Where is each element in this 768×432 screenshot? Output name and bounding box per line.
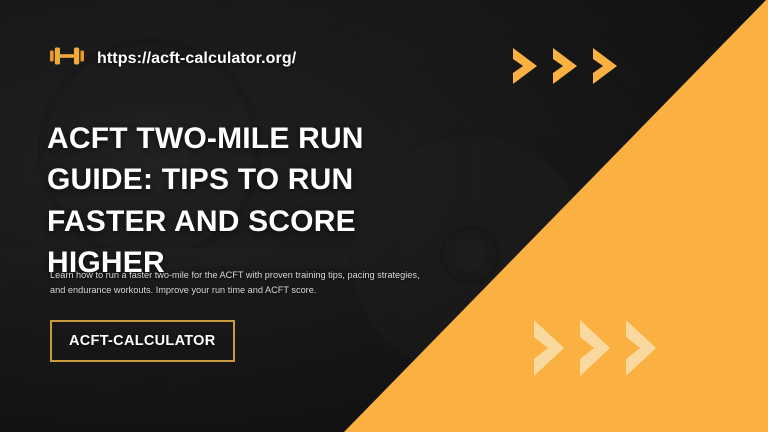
acft-calculator-button[interactable]: ACFT-CALCULATOR (50, 320, 235, 362)
chevron-right-icon (591, 46, 637, 91)
subtitle-description: Learn how to run a faster two-mile for t… (50, 268, 425, 298)
brand-row[interactable]: https://acft-calculator.org/ (50, 46, 296, 71)
chevron-group-bottom (532, 318, 670, 383)
chevron-right-icon (624, 318, 678, 383)
hero-banner: https://acft-calculator.org/ ACFT TWO-MI… (0, 0, 768, 432)
banner-content: https://acft-calculator.org/ ACFT TWO-MI… (0, 0, 768, 432)
chevron-group-top (511, 46, 631, 91)
page-title: ACFT TWO-MILE RUN GUIDE: TIPS TO RUN FAS… (47, 118, 477, 284)
site-url-text: https://acft-calculator.org/ (97, 50, 296, 68)
dumbbell-icon (50, 46, 84, 71)
